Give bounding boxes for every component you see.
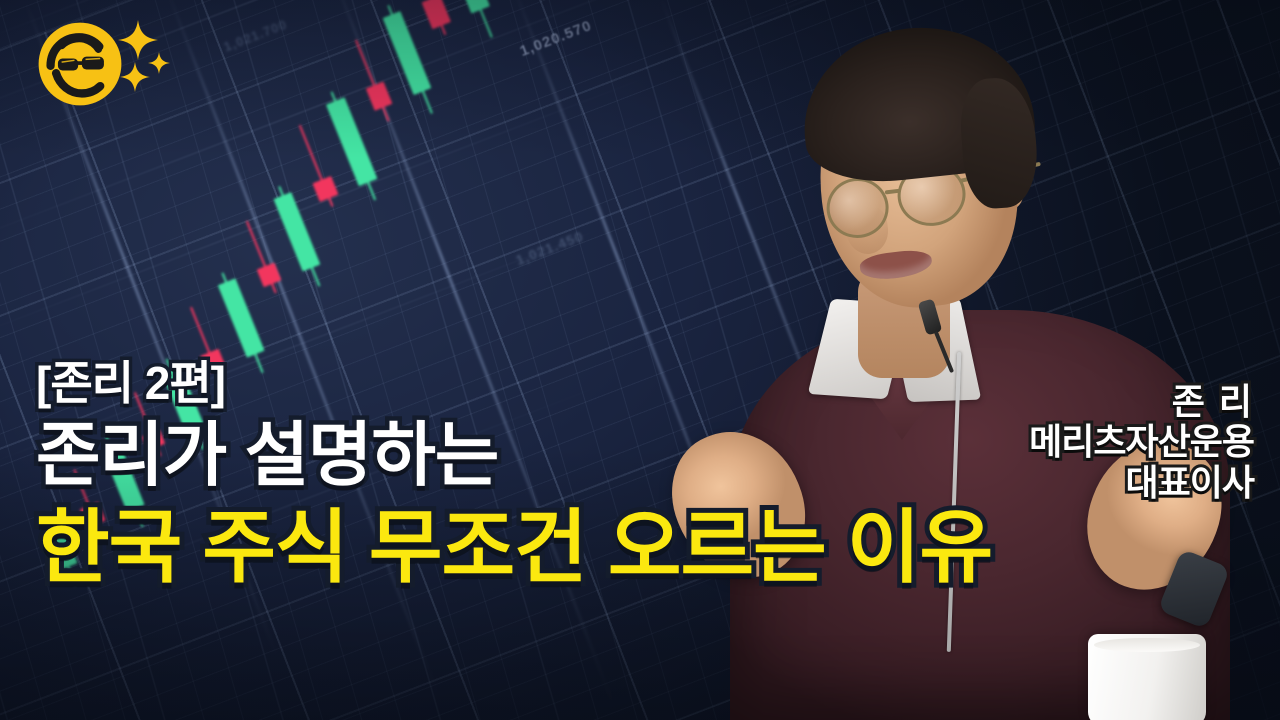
title-line-2-highlight: 한국 주식 무조건 오르는 이유 — [36, 508, 992, 588]
title-line-1: 존리가 설명하는 — [36, 420, 992, 490]
sunglasses-emoji-logo — [34, 18, 126, 110]
credit-name: 존 리 — [1029, 382, 1254, 422]
sparkle-icon-medium — [120, 62, 150, 92]
channel-logo[interactable] — [34, 18, 126, 110]
thumbnail-canvas: 1,020.570 1,021.450 1,021.700 — [0, 0, 1280, 720]
title-block: [존리 2편] 존리가 설명하는 한국 주식 무조건 오르는 이유 — [36, 360, 992, 588]
lens-left — [823, 174, 892, 241]
coffee-mug — [1088, 634, 1206, 720]
credit-company: 메리츠자산운용 — [1029, 422, 1254, 462]
credit-position: 대표이사 — [1029, 463, 1254, 503]
credit-block: 존 리 메리츠자산운용 대표이사 — [1029, 382, 1254, 503]
sparkle-icon-small — [148, 52, 170, 74]
title-eyebrow: [존리 2편] — [36, 360, 992, 406]
